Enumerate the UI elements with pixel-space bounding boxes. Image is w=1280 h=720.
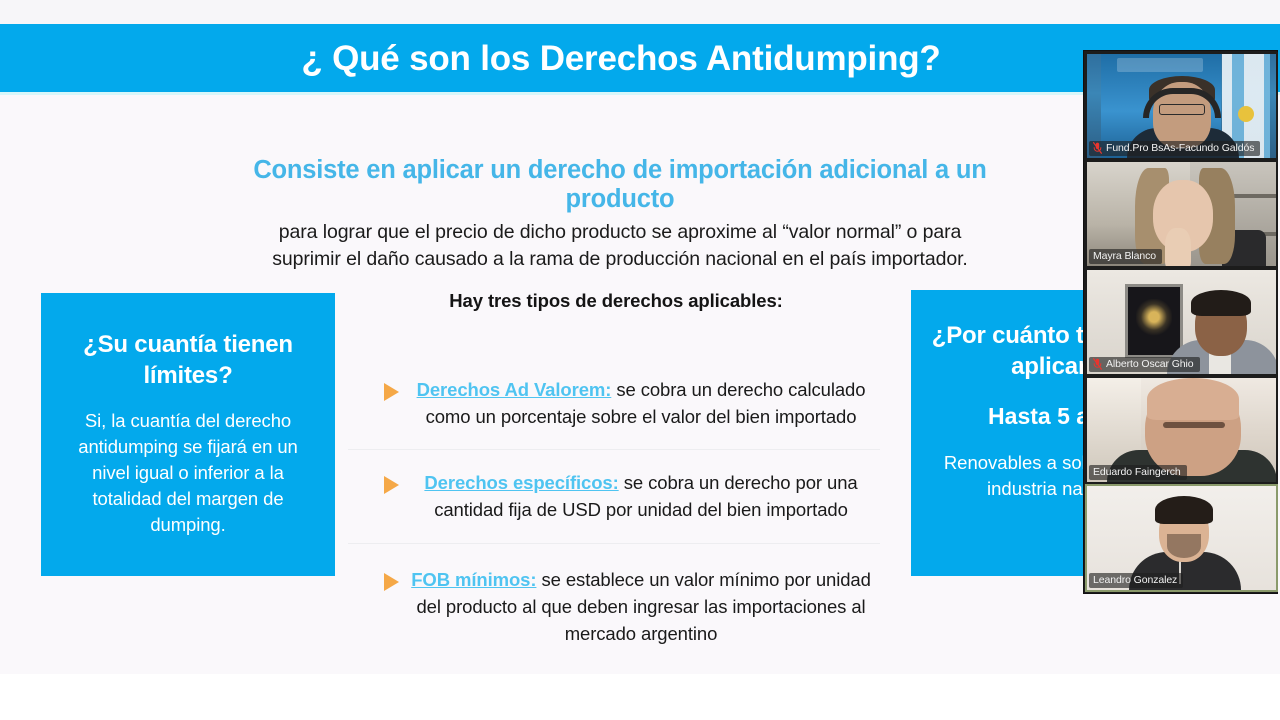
bullet-separator-1 bbox=[348, 449, 880, 450]
bullet-link-ad-valorem[interactable]: Derechos Ad Valorem: bbox=[417, 379, 612, 400]
triangle-bullet-icon bbox=[384, 573, 399, 591]
intro-sub-text: para lograr que el precio de dicho produ… bbox=[236, 219, 1004, 273]
slide-top-strip bbox=[0, 0, 1280, 24]
bullet-item-especificos-text: Derechos específicos: se cobra un derech… bbox=[398, 469, 884, 523]
participant-tile[interactable]: Fund.Pro BsAs-Facundo Galdós bbox=[1085, 52, 1278, 160]
intro-sub-line-2: suprimir el daño causado a la rama de pr… bbox=[272, 248, 968, 270]
mic-muted-icon bbox=[1093, 142, 1102, 154]
bullet-item-especificos: Derechos específicos: se cobra un derech… bbox=[348, 469, 884, 523]
participant-name: Alberto Oscar Ghio bbox=[1106, 358, 1194, 370]
participant-name-badge: Fund.Pro BsAs-Facundo Galdós bbox=[1089, 141, 1260, 156]
participant-name-badge: Eduardo Faingerch bbox=[1089, 465, 1187, 480]
video-filmstrip[interactable]: Fund.Pro BsAs-Facundo Galdós Mayra Blanc… bbox=[1083, 50, 1278, 594]
triangle-bullet-icon bbox=[384, 476, 399, 494]
card-limits-title: ¿Su cuantía tienen límites? bbox=[59, 329, 317, 391]
card-limits: ¿Su cuantía tienen límites? Si, la cuant… bbox=[41, 293, 335, 576]
slide-title: ¿ Qué son los Derechos Antidumping? bbox=[301, 39, 940, 79]
intro-sub-line-1: para lograr que el precio de dicho produ… bbox=[279, 221, 961, 243]
triangle-bullet-icon bbox=[384, 383, 399, 401]
participant-name-badge: Alberto Oscar Ghio bbox=[1089, 357, 1200, 372]
mic-muted-icon bbox=[1093, 358, 1102, 370]
bullet-item-ad-valorem: Derechos Ad Valorem: se cobra un derecho… bbox=[348, 376, 884, 430]
intro-lead-text: Consiste en aplicar un derecho de import… bbox=[236, 156, 1004, 214]
slide-bottom-strip bbox=[0, 674, 1280, 720]
participant-name: Leandro Gonzalez bbox=[1093, 574, 1177, 586]
participant-tile[interactable]: Eduardo Faingerch bbox=[1085, 376, 1278, 484]
bullet-link-fob[interactable]: FOB mínimos: bbox=[411, 569, 536, 590]
participant-tile[interactable]: Mayra Blanco bbox=[1085, 160, 1278, 268]
screen-root: ¿ Qué son los Derechos Antidumping? Cons… bbox=[0, 0, 1280, 720]
bullet-item-fob-text: FOB mínimos: se establece un valor mínim… bbox=[398, 566, 884, 647]
types-heading: Hay tres tipos de derechos aplicables: bbox=[348, 290, 884, 312]
participant-name-badge: Leandro Gonzalez bbox=[1089, 573, 1183, 588]
participant-name-badge: Mayra Blanco bbox=[1089, 249, 1162, 264]
participant-name: Mayra Blanco bbox=[1093, 250, 1156, 262]
participant-name: Fund.Pro BsAs-Facundo Galdós bbox=[1106, 142, 1254, 154]
bullet-item-fob: FOB mínimos: se establece un valor mínim… bbox=[348, 566, 884, 647]
participant-name: Eduardo Faingerch bbox=[1093, 466, 1181, 478]
participant-tile[interactable]: Leandro Gonzalez bbox=[1085, 484, 1278, 592]
types-bullet-list: Derechos Ad Valorem: se cobra un derecho… bbox=[348, 376, 884, 647]
bullet-item-ad-valorem-text: Derechos Ad Valorem: se cobra un derecho… bbox=[398, 376, 884, 430]
bullet-separator-2 bbox=[348, 543, 880, 544]
card-limits-body: Si, la cuantía del derecho antidumping s… bbox=[59, 408, 317, 538]
participant-tile[interactable]: Alberto Oscar Ghio bbox=[1085, 268, 1278, 376]
bullet-link-especificos[interactable]: Derechos específicos: bbox=[424, 472, 618, 493]
intro-block: Consiste en aplicar un derecho de import… bbox=[236, 156, 1004, 273]
center-column: Hay tres tipos de derechos aplicables: D… bbox=[348, 290, 884, 647]
